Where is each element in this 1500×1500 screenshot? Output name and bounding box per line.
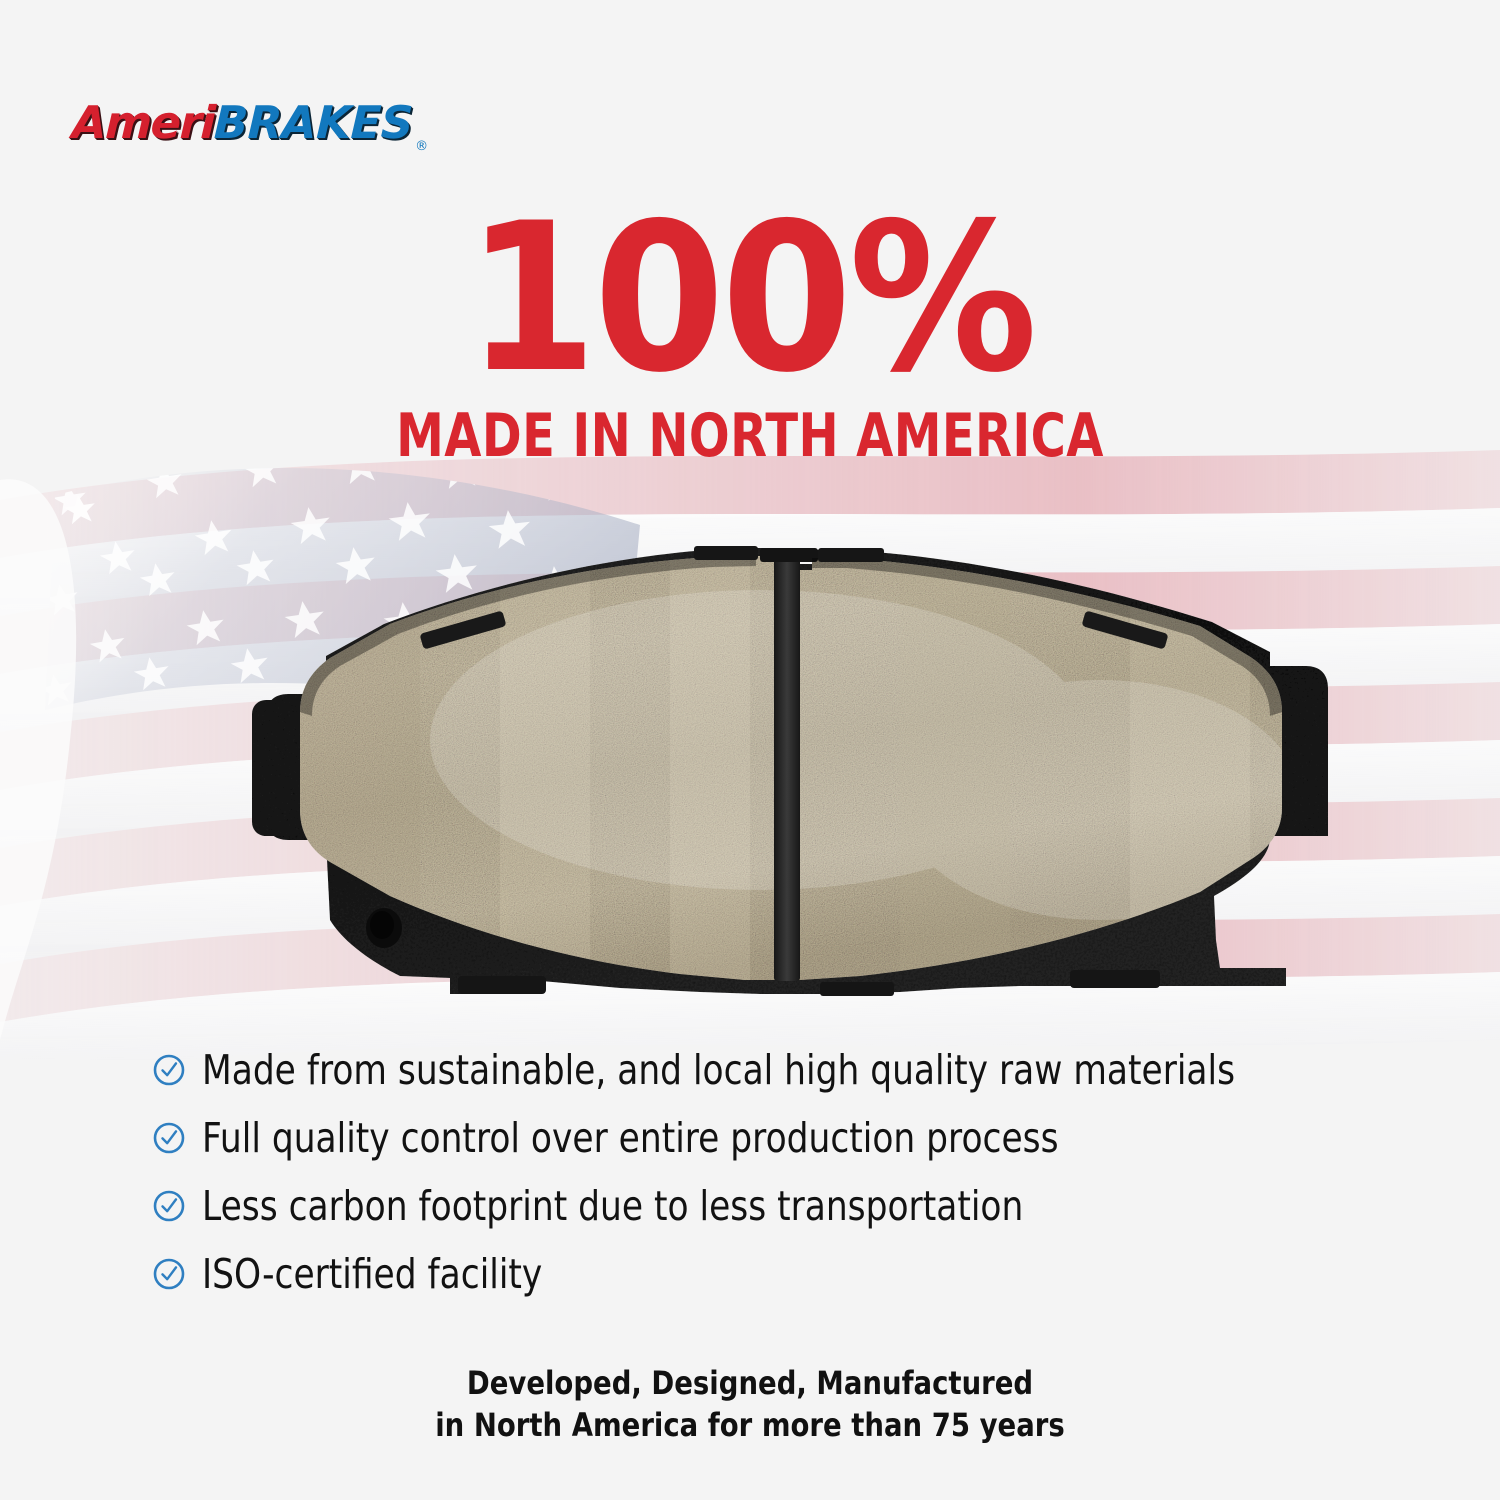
list-item: Made from sustainable, and local high qu…: [152, 1036, 1372, 1104]
promo-banner: AmeriBRAKES® 100% MADE IN NORTH AMERICA: [0, 0, 1500, 1500]
feature-text: Full quality control over entire product…: [202, 1118, 1059, 1159]
footer-line-2: in North America for more than 75 years: [105, 1404, 1395, 1446]
feature-text: Made from sustainable, and local high qu…: [202, 1050, 1235, 1091]
page-title: 100%: [60, 205, 1440, 394]
circle-check-icon: [152, 1121, 186, 1155]
footer-line-1: Developed, Designed, Manufactured: [105, 1362, 1395, 1404]
circle-check-icon: [152, 1257, 186, 1291]
list-item: Less carbon footprint due to less transp…: [152, 1172, 1372, 1240]
feature-text: Less carbon footprint due to less transp…: [202, 1186, 1023, 1227]
circle-check-icon: [152, 1053, 186, 1087]
brand-logo[interactable]: AmeriBRAKES®: [72, 100, 428, 156]
logo-text-ameri: Ameri: [71, 100, 215, 145]
feature-text: ISO-certified facility: [202, 1254, 542, 1295]
registered-trademark-icon: ®: [415, 139, 428, 154]
feature-list: Made from sustainable, and local high qu…: [152, 1036, 1372, 1308]
circle-check-icon: [152, 1189, 186, 1223]
product-image-brake-pad: [200, 540, 1340, 1010]
page-subtitle: MADE IN NORTH AMERICA: [150, 406, 1350, 466]
logo-text-brakes: BRAKES: [214, 100, 414, 145]
footer-block: Developed, Designed, Manufactured in Nor…: [0, 1362, 1500, 1446]
brake-pad-graphic: [200, 540, 1340, 1010]
list-item: Full quality control over entire product…: [152, 1104, 1372, 1172]
headline-block: 100% MADE IN NORTH AMERICA: [0, 205, 1500, 466]
list-item: ISO-certified facility: [152, 1240, 1372, 1308]
